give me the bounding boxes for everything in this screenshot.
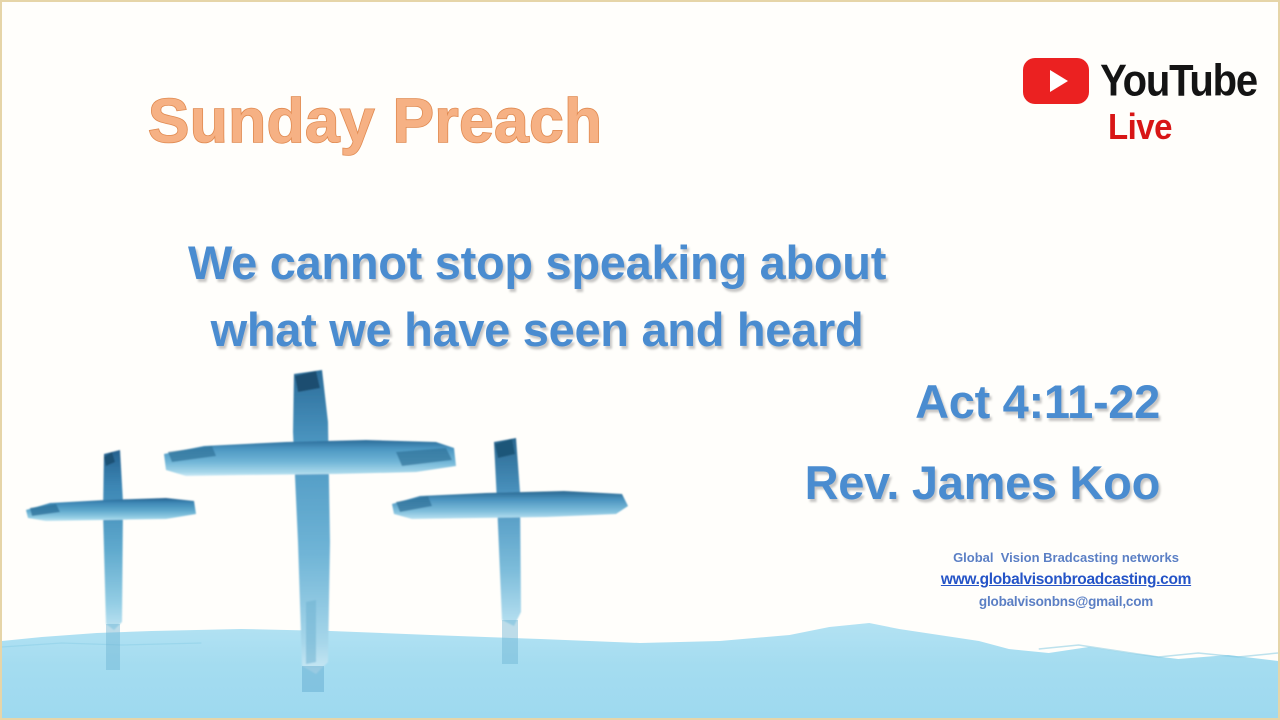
- youtube-live-logo[interactable]: YouTube Live: [1026, 58, 1254, 146]
- cross-left: [26, 450, 196, 630]
- page-title: Sunday Preach: [148, 86, 602, 157]
- verse-block: We cannot stop speaking about what we ha…: [2, 230, 1072, 363]
- youtube-wordmark-label: YouTube: [1100, 56, 1257, 106]
- play-triangle-icon: [1050, 70, 1068, 92]
- youtube-wordmark-row: YouTube: [1023, 58, 1257, 104]
- slide-canvas: Sunday Preach YouTube Live We cannot sto…: [0, 0, 1280, 720]
- website-link[interactable]: www.globalvisonbroadcasting.com: [916, 568, 1216, 591]
- scripture-reference: Act 4:11-22: [805, 374, 1160, 429]
- youtube-play-icon: [1023, 58, 1089, 104]
- speaker-name: Rev. James Koo: [805, 455, 1160, 510]
- youtube-live-label: Live: [1108, 106, 1172, 148]
- email-address[interactable]: globalvisonbns@gmail,com: [916, 591, 1216, 613]
- water-fill: [2, 623, 1278, 718]
- water-edge-detail: [1039, 645, 1278, 657]
- cross-middle: [164, 370, 456, 674]
- verse-line-1: We cannot stop speaking about: [2, 230, 1072, 297]
- water-band-shape: [2, 613, 1278, 718]
- verse-line-2: what we have seen and heard: [2, 297, 1072, 364]
- cross-reflections: [106, 620, 518, 692]
- water-band: [2, 613, 1278, 718]
- cross-right: [392, 438, 628, 626]
- water-ripple-left: [2, 643, 201, 647]
- three-crosses-artwork: [16, 362, 656, 692]
- organization-name: Global Vision Bradcasting networks: [916, 548, 1216, 568]
- reference-block: Act 4:11-22 Rev. James Koo: [805, 374, 1160, 510]
- crosses-svg: [16, 362, 656, 692]
- credits-block: Global Vision Bradcasting networks www.g…: [916, 548, 1216, 613]
